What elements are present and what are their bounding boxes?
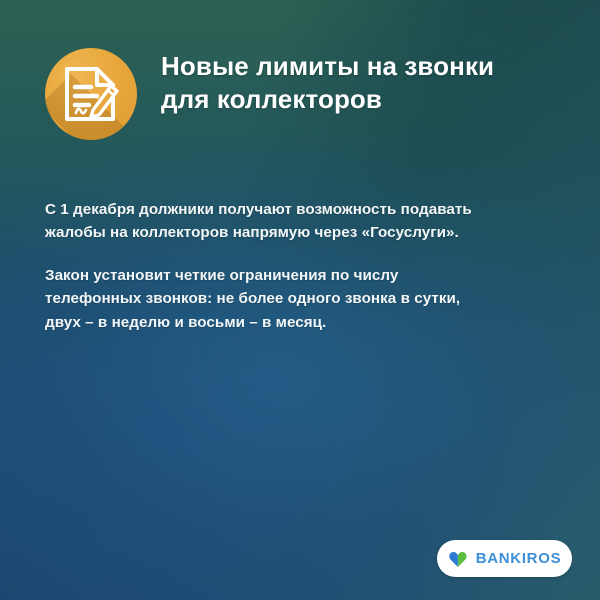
document-signature-icon [45, 48, 137, 140]
paragraph-2: Закон установит четкие ограничения по чи… [45, 264, 570, 333]
card-header: Новые лимиты на звонки для коллекторов [45, 44, 565, 140]
paragraph-1: С 1 декабря должники получают возможност… [45, 198, 570, 244]
bankiros-logo-text: BANKIROS [476, 550, 562, 567]
bankiros-heart-check-mark [448, 550, 468, 568]
promo-card: Новые лимиты на звонки для коллекторов С… [0, 0, 600, 600]
body-copy: С 1 декабря должники получают возможност… [45, 183, 570, 349]
title-wrap: Новые лимиты на звонки для коллекторов [161, 44, 494, 117]
bankiros-logo[interactable]: BANKIROS [437, 540, 572, 577]
page-title: Новые лимиты на звонки для коллекторов [161, 50, 494, 117]
